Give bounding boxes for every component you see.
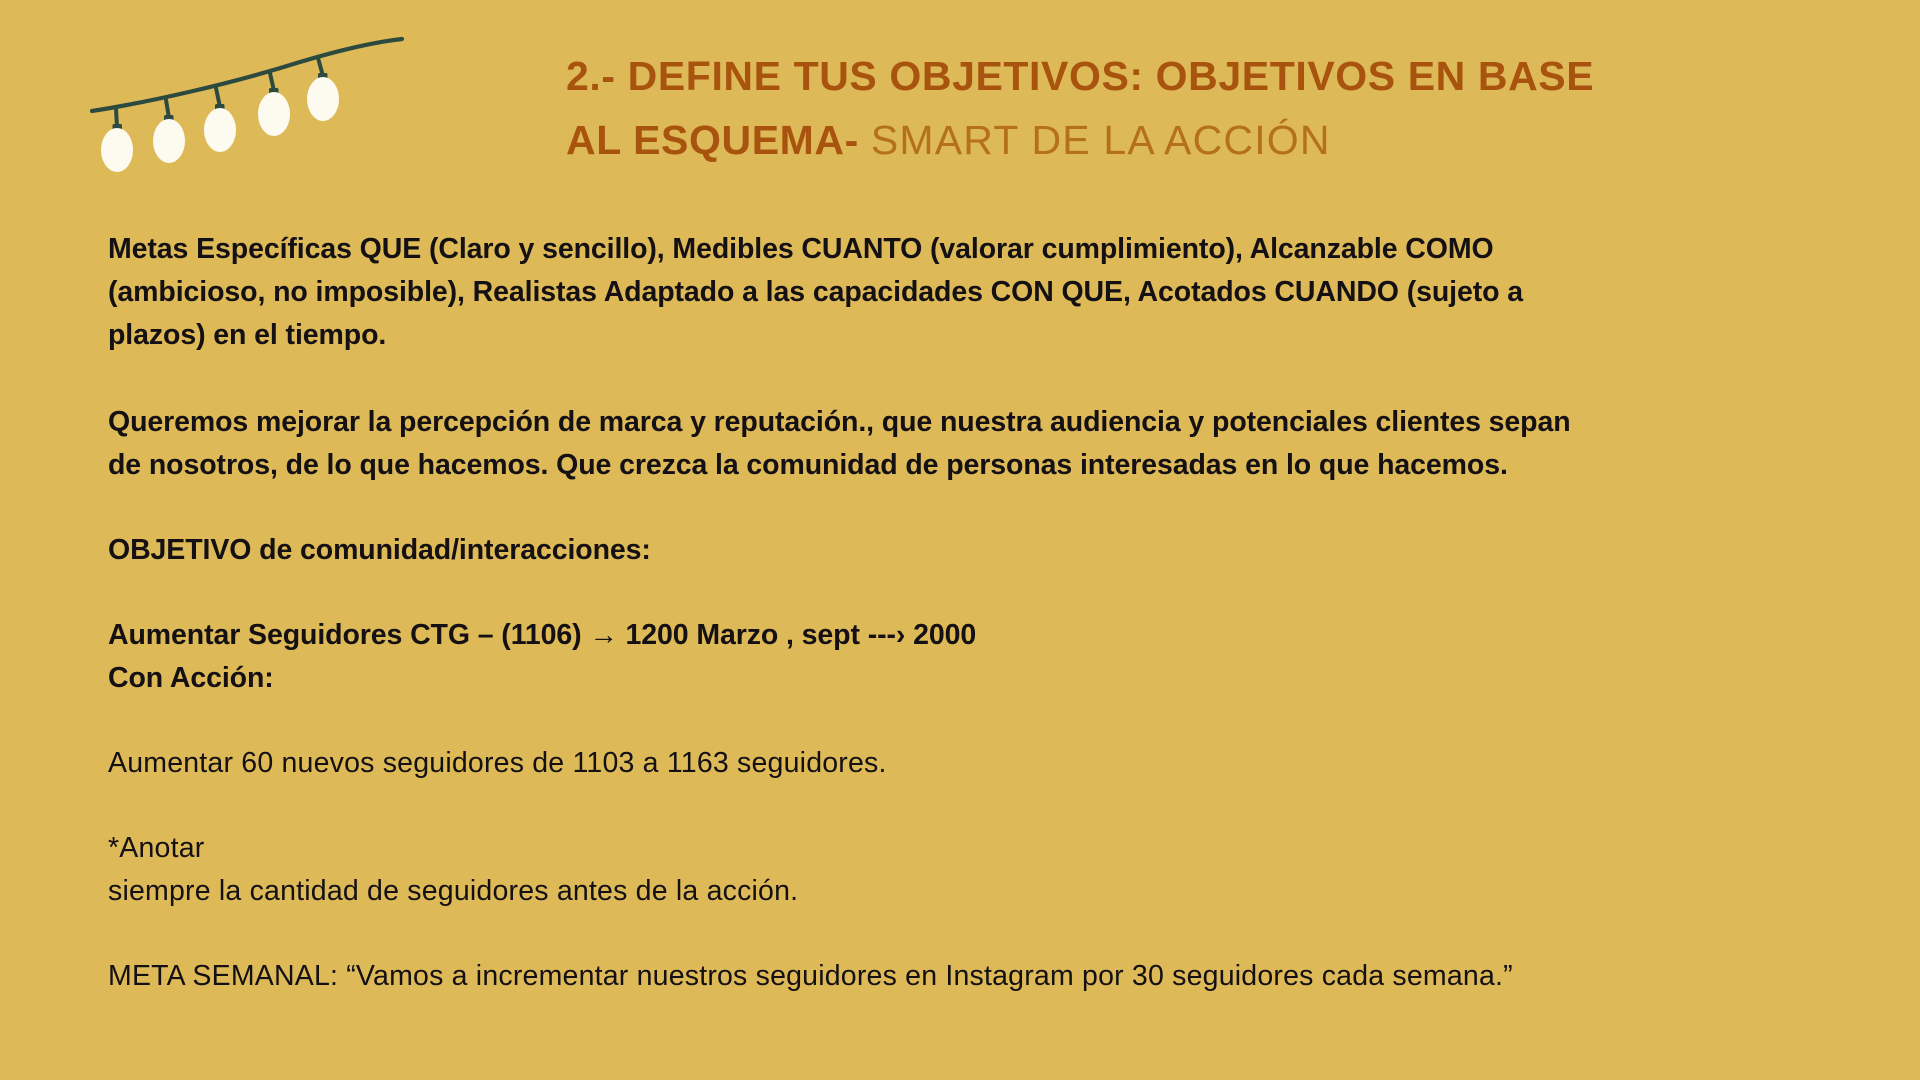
spacer-3 — [108, 572, 1838, 614]
meta-seguidores-block: Aumentar Seguidores CTG – (1106) → 1200 … — [108, 614, 1838, 700]
meta-line-2: Con Acción: — [108, 657, 1838, 700]
anotar-line-1: *Anotar — [108, 827, 1838, 870]
slide-title: 2.- DEFINE TUS OBJETIVOS: OBJETIVOS EN B… — [566, 44, 1856, 172]
meta-line-1: Aumentar Seguidores CTG – (1106) → 1200 … — [108, 614, 1838, 657]
paragraph-smart-definition: Metas Específicas QUE (Claro y sencillo)… — [108, 228, 1838, 357]
slide-body: Metas Específicas QUE (Claro y sencillo)… — [108, 228, 1838, 998]
paragraph-2-line-1: Queremos mejorar la percepción de marca … — [108, 401, 1838, 444]
paragraph-percepcion-marca: Queremos mejorar la percepción de marca … — [108, 401, 1838, 487]
objetivo-heading: OBJETIVO de comunidad/interacciones: — [108, 529, 1838, 572]
title-bold-line2: AL ESQUEMA- — [566, 117, 859, 163]
anotar-block: *Anotar siempre la cantidad de seguidore… — [108, 827, 1838, 913]
paragraph-1-line-3: plazos) en el tiempo. — [108, 314, 1838, 357]
spacer-6 — [108, 913, 1838, 955]
title-line-1: 2.- DEFINE TUS OBJETIVOS: OBJETIVOS EN B… — [566, 44, 1856, 108]
title-line-2: AL ESQUEMA- SMART DE LA ACCIÓN — [566, 108, 1856, 172]
string-lights-icon — [90, 28, 420, 193]
paragraph-1-line-2: (ambicioso, no imposible), Realistas Ada… — [108, 271, 1838, 314]
spacer-4 — [108, 700, 1838, 742]
spacer-2 — [108, 487, 1838, 529]
title-bold-line1: 2.- DEFINE TUS OBJETIVOS: OBJETIVOS EN B… — [566, 53, 1594, 99]
paragraph-1-line-1: Metas Específicas QUE (Claro y sencillo)… — [108, 228, 1838, 271]
slide-canvas: 2.- DEFINE TUS OBJETIVOS: OBJETIVOS EN B… — [0, 0, 1920, 1080]
paragraph-2-line-2: de nosotros, de lo que hacemos. Que crez… — [108, 444, 1838, 487]
meta-semanal: META SEMANAL: “Vamos a incrementar nuest… — [108, 955, 1838, 998]
anotar-line-2: siempre la cantidad de seguidores antes … — [108, 870, 1838, 913]
spacer-1 — [108, 357, 1838, 401]
title-light-part: SMART DE LA ACCIÓN — [871, 117, 1331, 163]
accion-detalle: Aumentar 60 nuevos seguidores de 1103 a … — [108, 742, 1838, 785]
spacer-5 — [108, 785, 1838, 827]
